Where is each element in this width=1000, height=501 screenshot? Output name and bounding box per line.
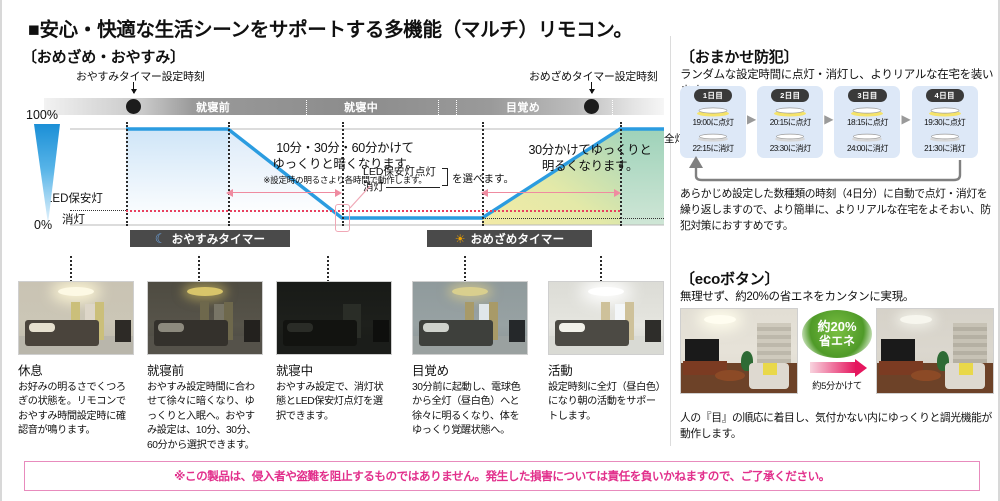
off-level-line: [482, 218, 664, 219]
section-title-security: 〔おまかせ防犯〕: [680, 46, 798, 67]
lamp-off-time: 22:15に消灯: [692, 142, 733, 154]
led-nightlight-level-line: [126, 210, 620, 212]
scene-body: お好みの明るさでくつろぎの状態を。リモコンでおやすみ時間設定時に確認音が鳴ります…: [18, 381, 134, 439]
band-separator: [438, 100, 439, 117]
scene-body: おやすみ設定時間に合わせて徐々に暗くなり、ゆっくりと入眠へ。おやすみ設定は、10…: [147, 381, 263, 453]
band-separator: [456, 100, 457, 117]
day-badge: 3日目: [848, 89, 886, 102]
sleep-wake-section: 〔おめざめ・おやすみ〕 おやすみタイマー設定時刻 おめざめタイマー設定時刻 就寝…: [2, 0, 670, 455]
sleep-timer-label: おやすみタイマー: [172, 231, 266, 247]
scene-photo: [18, 281, 134, 355]
photo-guide-5: [600, 256, 602, 282]
disclaimer-text: ※この製品は、侵入者や盗難を阻止するものではありません。発生した損害については責…: [174, 468, 830, 484]
chart-plot-area: 全灯（昼光色） 10分・30分・60分かけて ゆっくりと暗くなります。 ※: [70, 122, 664, 226]
lamp-on-time: 19:30に点灯: [924, 116, 965, 128]
phase-label-sleeping: 就寝中: [344, 99, 378, 115]
photo-guide-4: [464, 256, 466, 282]
sleep-timer-bar[interactable]: ☾ おやすみタイマー: [130, 230, 290, 247]
scene-title: 就寝前: [147, 360, 263, 379]
scene-body: 30分前に起動し、電球色から全灯（昼白色）へと徐々に明るくなり、体をゆっくり覚醒…: [412, 381, 528, 439]
lamp-on-icon: [772, 104, 808, 115]
scene-title: 休息: [18, 360, 134, 379]
day-card: 4日目 19:30に点灯 21:30に消灯: [912, 86, 978, 158]
photo-guide-2: [198, 256, 200, 282]
wake-timer-label: おめざめタイマー: [471, 231, 565, 247]
day-card: 1日目 19:00に点灯 22:15に消灯: [680, 86, 746, 158]
day-card: 2日目 20:15に点灯 23:30に消灯: [757, 86, 823, 158]
chevron-right-icon: ▶: [900, 112, 911, 126]
scene-body: おやすみ設定で、消灯状態とLED保安灯点灯を選択できます。: [276, 381, 392, 424]
chevron-right-icon: ▶: [746, 112, 757, 126]
scene-card-pre-sleep: 就寝前 おやすみ設定時間に合わせて徐々に暗くなり、ゆっくりと入眠へ。おやすみ設定…: [147, 281, 263, 453]
marker-dot-sleep-timer: [126, 99, 141, 114]
band-separator: [612, 100, 613, 117]
brochure-page: ■安心・快適な生活シーンをサポートする多機能（マルチ）リモコン。 〔おめざめ・お…: [0, 0, 1000, 501]
chevron-right-icon: ▶: [823, 112, 834, 126]
lamp-off-time: 24:00に消灯: [847, 142, 888, 154]
annotation-fade-out-line1: 10分・30分・60分かけて: [220, 140, 470, 157]
eco-comparison: 約20% 省エネ 約5分かけて: [680, 308, 994, 404]
photo-guide-1: [70, 256, 72, 282]
repeat-loop-arrow-icon: [680, 156, 970, 182]
lamp-off-icon: [849, 130, 885, 141]
marker-dot-wake-timer: [584, 99, 599, 114]
scene-photo: [276, 281, 392, 355]
scene-body: 設定時刻に全灯（昼白色）になり朝の活動をサポートします。: [548, 381, 664, 424]
lamp-on-icon: [695, 104, 731, 115]
axis-label-max: 100%: [26, 108, 58, 122]
day-badge: 1日目: [694, 89, 732, 102]
fade-out-span-arrow: [233, 192, 335, 193]
sun-icon: ☀: [455, 233, 466, 245]
choice-leader-line: [386, 187, 440, 188]
eco-description: 人の『目』の順応に着目し、気付かない内にゆっくりと調光機能が動作します。: [680, 410, 996, 442]
lamp-on-time: 20:15に点灯: [770, 116, 811, 128]
security-description: あらかじめ設定した数種類の時刻（4日分）に自動で点灯・消灯を繰り返しますので、よ…: [680, 186, 992, 235]
phase-label-pre-sleep: 就寝前: [196, 99, 230, 115]
annotation-fade-in-line1: 30分かけてゆっくりと: [500, 142, 680, 159]
right-arrow-icon: [810, 362, 856, 373]
choice-bracket: [442, 168, 448, 186]
annotation-choice-suffix: を選べます。: [452, 171, 514, 186]
scene-photo: [147, 281, 263, 355]
lamp-off-time: 23:30に消灯: [770, 142, 811, 154]
choice-leader-curve: [338, 184, 372, 212]
scene-card-sleeping: 就寝中 おやすみ設定で、消灯状態とLED保安灯点灯を選択できます。: [276, 281, 392, 424]
eco-arrow-caption: 約5分かけて: [802, 378, 872, 392]
column-divider: [670, 36, 671, 446]
annotation-choice-line1: LED保安灯点灯: [363, 164, 436, 179]
scene-photo: [548, 281, 664, 355]
lamp-off-icon: [695, 130, 731, 141]
eco-savings-badge: 約20% 省エネ: [802, 310, 872, 358]
scene-card-rest: 休息 お好みの明るさでくつろぎの状態を。リモコンでおやすみ時間設定時に確認音が鳴…: [18, 281, 134, 439]
scene-photo: [412, 281, 528, 355]
lamp-on-time: 18:15に点灯: [847, 116, 888, 128]
eco-photo-after: [876, 308, 994, 394]
security-day-cards: 1日目 19:00に点灯 22:15に消灯 ▶: [680, 86, 996, 158]
lamp-off-icon: [927, 130, 963, 141]
section-subtitle-eco: 無理せず、約20%の省エネをカンタンに実現。: [680, 288, 914, 304]
photo-guide-3: [327, 256, 329, 282]
brightness-scale-triangle: [32, 122, 62, 226]
led-level-tick-line: [70, 210, 126, 211]
lamp-off-icon: [772, 130, 808, 141]
phase-label-waking: 目覚め: [506, 99, 540, 115]
marker-label-sleep-timer: おやすみタイマー設定時刻: [76, 68, 204, 84]
section-title-eco: 〔ecoボタン〕: [680, 268, 779, 289]
marker-label-wake-timer: おめざめタイマー設定時刻: [529, 68, 657, 84]
wake-timer-bar[interactable]: ☀ おめざめタイマー: [427, 230, 592, 247]
day-card: 3日目 18:15に点灯 24:00に消灯: [834, 86, 900, 158]
scene-title: 活動: [548, 360, 664, 379]
day-badge: 2日目: [771, 89, 809, 102]
fade-in-span-arrow: [488, 192, 614, 193]
lamp-off-time: 21:30に消灯: [924, 142, 965, 154]
day-badge: 4日目: [926, 89, 964, 102]
lamp-on-icon: [927, 104, 963, 115]
scene-title: 目覚め: [412, 360, 528, 379]
lamp-on-time: 19:00に点灯: [692, 116, 733, 128]
scene-card-waking: 目覚め 30分前に起動し、電球色から全灯（昼白色）へと徐々に明るくなり、体をゆっ…: [412, 281, 528, 439]
section-title-sleep: 〔おめざめ・おやすみ〕: [22, 46, 185, 67]
disclaimer-banner: ※この製品は、侵入者や盗難を阻止するものではありません。発生した損害については責…: [24, 461, 980, 491]
scene-title: 就寝中: [276, 360, 392, 379]
moon-icon: ☾: [155, 232, 167, 245]
scene-card-active: 活動 設定時刻に全灯（昼白色）になり朝の活動をサポートします。: [548, 281, 664, 424]
annotation-fade-in-line2: 明るくなります。: [500, 158, 680, 175]
eco-badge-line1: 約20%: [817, 320, 856, 335]
band-separator: [306, 100, 307, 117]
brightness-timeline-chart: 就寝前 就寝中 目覚め 100% 0% LED保安灯 消灯: [18, 96, 666, 256]
eco-transition: 約20% 省エネ 約5分かけて: [802, 308, 872, 398]
eco-photo-before: [680, 308, 798, 394]
down-arrow-icon: [133, 82, 134, 93]
eco-badge-line2: 省エネ: [819, 335, 855, 348]
right-column: 〔おまかせ防犯〕 ランダムな設定時間に点灯・消灯し、よりリアルな在宅を装います。…: [674, 0, 1000, 455]
down-arrow-icon: [591, 82, 592, 93]
lamp-on-icon: [849, 104, 885, 115]
